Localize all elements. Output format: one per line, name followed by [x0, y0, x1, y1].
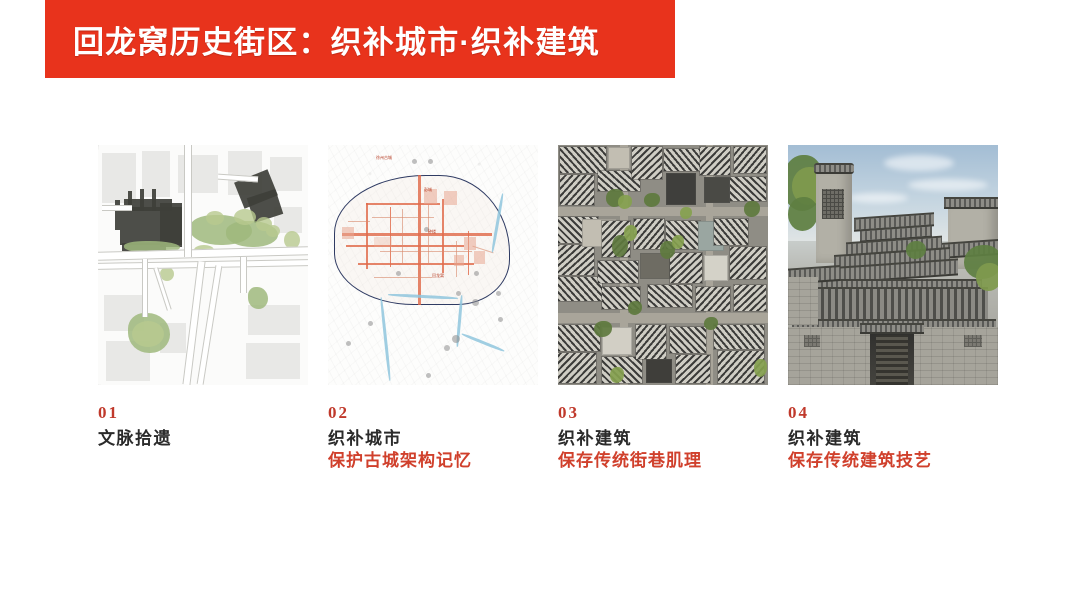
image-gallery: 01 文脉拾遗	[98, 145, 982, 473]
gallery-card[interactable]: 04 织补建筑 保存传统建筑技艺	[788, 145, 998, 473]
aerial-roofscape[interactable]	[558, 145, 768, 385]
caption-main-title: 织补城市	[328, 428, 538, 451]
caption-main-title: 文脉拾遗	[98, 428, 308, 451]
historic-city-map[interactable]: 彭城 钟楼 回龙窝 徐州古城	[328, 145, 538, 385]
card-caption: 02 织补城市 保护古城架构记忆	[328, 402, 538, 473]
courtyard-architecture-photo[interactable]	[788, 145, 998, 385]
page-title: 回龙窝历史街区：织补城市·织补建筑	[73, 17, 600, 62]
caption-main-title: 织补建筑	[788, 428, 998, 451]
caption-number: 01	[98, 402, 308, 425]
caption-number: 02	[328, 402, 538, 425]
urban-plan-map[interactable]	[98, 145, 308, 385]
caption-subtitle: 保存传统街巷肌理	[558, 450, 768, 473]
caption-subtitle: 保存传统建筑技艺	[788, 450, 998, 473]
caption-subtitle: 保护古城架构记忆	[328, 450, 538, 473]
caption-number: 03	[558, 402, 768, 425]
card-caption: 01 文脉拾遗	[98, 402, 308, 450]
gallery-card[interactable]: 01 文脉拾遗	[98, 145, 308, 473]
gallery-card[interactable]: 彭城 钟楼 回龙窝 徐州古城 02 织补城市 保护古城架构记忆	[328, 145, 538, 473]
card-caption: 04 织补建筑 保存传统建筑技艺	[788, 402, 998, 473]
title-banner: 回龙窝历史街区：织补城市·织补建筑	[45, 0, 675, 78]
gallery-card[interactable]: 03 织补建筑 保存传统街巷肌理	[558, 145, 768, 473]
caption-main-title: 织补建筑	[558, 428, 768, 451]
card-caption: 03 织补建筑 保存传统街巷肌理	[558, 402, 768, 473]
caption-number: 04	[788, 402, 998, 425]
